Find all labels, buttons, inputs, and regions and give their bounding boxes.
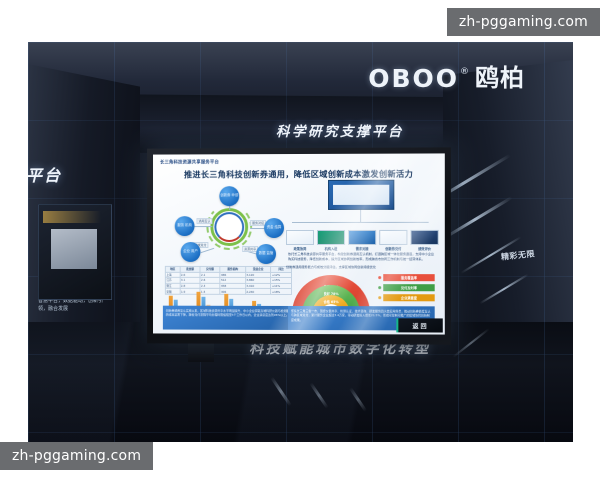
gauge-legend-row: 兑付及时率 <box>378 284 434 291</box>
gauge-note: 创新券通用服务能力与成效分级评估，支撑区域协同创新持续优化 <box>286 264 376 269</box>
return-button[interactable]: 返回 <box>396 318 442 332</box>
large-display[interactable]: 长三角科技资源共享服务平台 推进长三角科技创新券通用，降低区域创新成本激发创新活… <box>147 147 451 344</box>
gauge-legend: 服务覆盖率 兑付及时率 企业满意度 <box>378 274 434 305</box>
hub-node-label: 资金 结算 <box>264 218 284 238</box>
banner-top: 科学研究支撑平台 <box>190 120 490 140</box>
watermark-bottom-left: zh-pggaming.com <box>0 442 153 470</box>
watermark-top-right: zh-pggaming.com <box>447 8 600 36</box>
flow-card-thumb <box>410 230 438 245</box>
hub-node[interactable]: 创新券 申领 <box>219 186 239 206</box>
registered-mark-icon: ® <box>460 67 470 77</box>
note-panel-left: 创新券通用互认实施以来，区域科技资源共享水平明显提升，中小企业获取高端科研仪器与… <box>163 306 296 330</box>
flow-diagram: 政策协同 机构入驻 需求对接 <box>284 180 437 262</box>
legend-dot-icon <box>378 276 381 279</box>
gauge-legend-label: 企业满意度 <box>383 294 434 301</box>
legend-dot-icon <box>378 296 381 299</box>
slide-title: 推进长三角科技创新券通用，降低区域创新成本激发创新活力 <box>160 168 438 181</box>
banner-left: 平台 <box>28 162 62 186</box>
hub-diagram: 通用互认 服务对接 跨域兑付 资源共享 创新券 申领 服务 机构 企业 用户 资… <box>171 190 288 264</box>
hub-node-label: 服务 机构 <box>175 216 195 236</box>
gauge-legend-row: 服务覆盖率 <box>378 274 434 281</box>
hub-node-label: 数据 监管 <box>256 244 276 264</box>
gauge-legend-label: 兑付及时率 <box>383 284 434 291</box>
flow-bus-line <box>292 222 429 223</box>
flow-stem <box>360 210 361 222</box>
display-screen[interactable]: 长三角科技资源共享服务平台 推进长三角科技创新券通用，降低区域创新成本激发创新活… <box>153 153 445 334</box>
flow-card[interactable]: 需求对接 <box>348 230 376 251</box>
display-stand <box>188 342 214 362</box>
flow-card[interactable]: 政策协同 <box>286 230 314 251</box>
flow-note: 依托长三角科技资源共享服务平台，构建创新券通用互认机制，打通跨区域一体化服务通道… <box>288 252 435 262</box>
hub-node[interactable]: 企业 用户 <box>181 242 201 262</box>
kiosk-glow <box>43 211 101 223</box>
flow-card[interactable]: 绩效评价 <box>410 230 438 251</box>
wall-note-left: 智慧平台，数据驱动，创新引领，融合发展 <box>38 298 108 313</box>
gauge-legend-row: 企业满意度 <box>378 294 434 301</box>
gauge-legend-label: 服务覆盖率 <box>383 274 434 281</box>
flow-top-screenshot <box>333 185 389 205</box>
flow-top-box <box>328 180 394 210</box>
hub-node-label: 创新券 申领 <box>219 186 239 206</box>
screenshot-root: OBOO ® 鸥柏 科学研究支撑平台 科技赋能城市数字化转型 平台 精彩无限 智… <box>0 0 600 480</box>
exhibition-hall-photo: OBOO ® 鸥柏 科学研究支撑平台 科技赋能城市数字化转型 平台 精彩无限 智… <box>28 42 573 442</box>
slide-kicker: 长三角科技资源共享服务平台 <box>160 158 438 165</box>
brand-logo: OBOO ® 鸥柏 <box>368 58 525 93</box>
flow-card-label: 创新券兑付 <box>379 246 407 251</box>
brand-logo-cn: 鸥柏 <box>475 58 525 93</box>
hub-node[interactable]: 数据 监管 <box>256 244 276 264</box>
presentation-slide: 长三角科技资源共享服务平台 推进长三角科技创新券通用，降低区域创新成本激发创新活… <box>153 153 445 334</box>
flow-card[interactable]: 创新券兑付 <box>379 230 407 251</box>
hub-connector <box>195 226 213 227</box>
hub-center-ring <box>210 208 248 246</box>
hub-node-label: 企业 用户 <box>181 242 201 262</box>
flow-card-thumb <box>317 230 345 245</box>
flow-card-label: 需求对接 <box>348 246 376 251</box>
flow-card-thumb <box>348 230 376 245</box>
hub-connector <box>201 248 215 253</box>
flow-card-label: 政策协同 <box>286 246 314 251</box>
kiosk-screen[interactable] <box>51 229 97 269</box>
brand-logo-text: OBOO <box>368 64 459 93</box>
flow-card-label: 绩效评价 <box>410 246 438 251</box>
return-button-label: 返回 <box>412 321 428 330</box>
hub-caption: 通用互认 <box>197 218 213 224</box>
flow-card[interactable]: 机构入驻 <box>317 230 345 251</box>
legend-dot-icon <box>378 286 381 289</box>
flow-card-thumb <box>286 230 314 245</box>
flow-card-list: 政策协同 机构入驻 需求对接 <box>286 230 439 251</box>
flow-card-label: 机构入驻 <box>317 246 345 251</box>
flow-card-thumb <box>379 230 407 245</box>
hub-node[interactable]: 资金 结算 <box>264 218 284 238</box>
hub-node[interactable]: 服务 机构 <box>175 216 195 236</box>
side-kiosk[interactable] <box>38 204 112 300</box>
